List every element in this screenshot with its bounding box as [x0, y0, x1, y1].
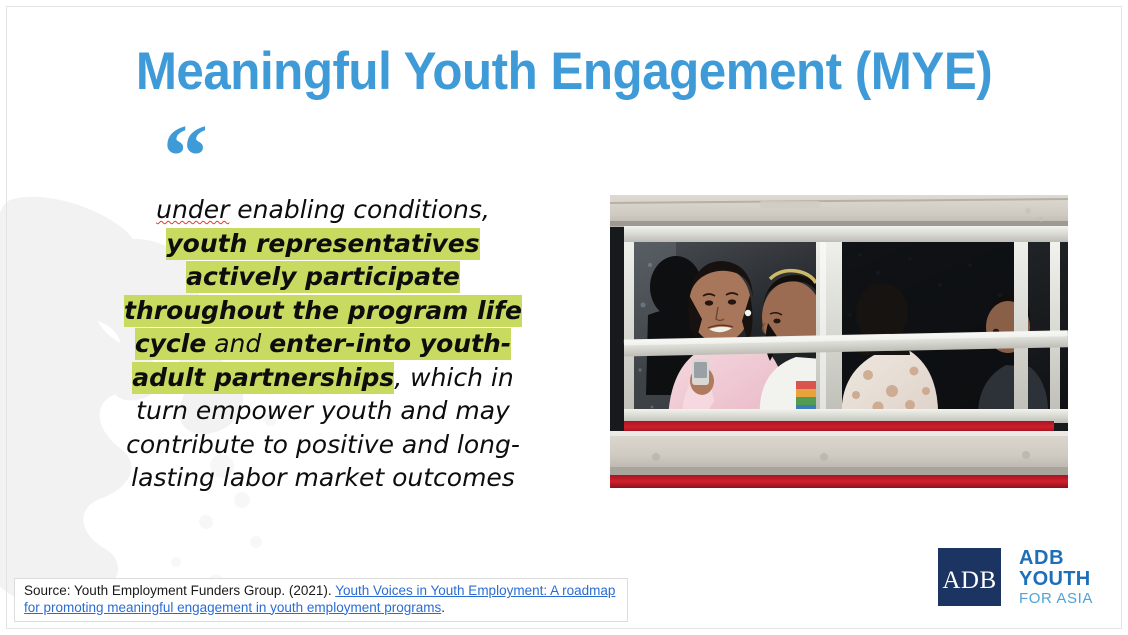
adb-logo-text: ADB: [942, 568, 996, 593]
source-citation: Source: Youth Employment Funders Group. …: [14, 578, 628, 622]
source-suffix: .: [441, 600, 445, 615]
source-prefix: Source: Youth Employment Funders Group. …: [24, 583, 335, 598]
quote-text: under enabling conditions, youth represe…: [118, 193, 528, 495]
quote-segment-plain-1: enabling conditions,: [229, 195, 489, 224]
photo-youth-on-bus: [610, 195, 1068, 488]
yfa-line-2: YOUTH: [1019, 569, 1093, 589]
presentation-slide: Meaningful Youth Engagement (MYE) “ unde…: [0, 0, 1128, 635]
page-title: Meaningful Youth Engagement (MYE): [39, 40, 1088, 104]
adb-logo: ADB: [938, 548, 1001, 606]
logo-group: ADB ADB YOUTH FOR ASIA: [938, 544, 1118, 610]
adb-youth-for-asia-logo: ADB YOUTH FOR ASIA: [1019, 548, 1093, 606]
yfa-line-3: FOR ASIA: [1019, 591, 1093, 606]
quote-segment-misspelled: under: [156, 195, 229, 224]
yfa-line-1: ADB: [1019, 548, 1093, 568]
quote-segment-highlight-conjunction: and: [206, 328, 269, 360]
quote-mark-icon: “: [163, 112, 206, 202]
